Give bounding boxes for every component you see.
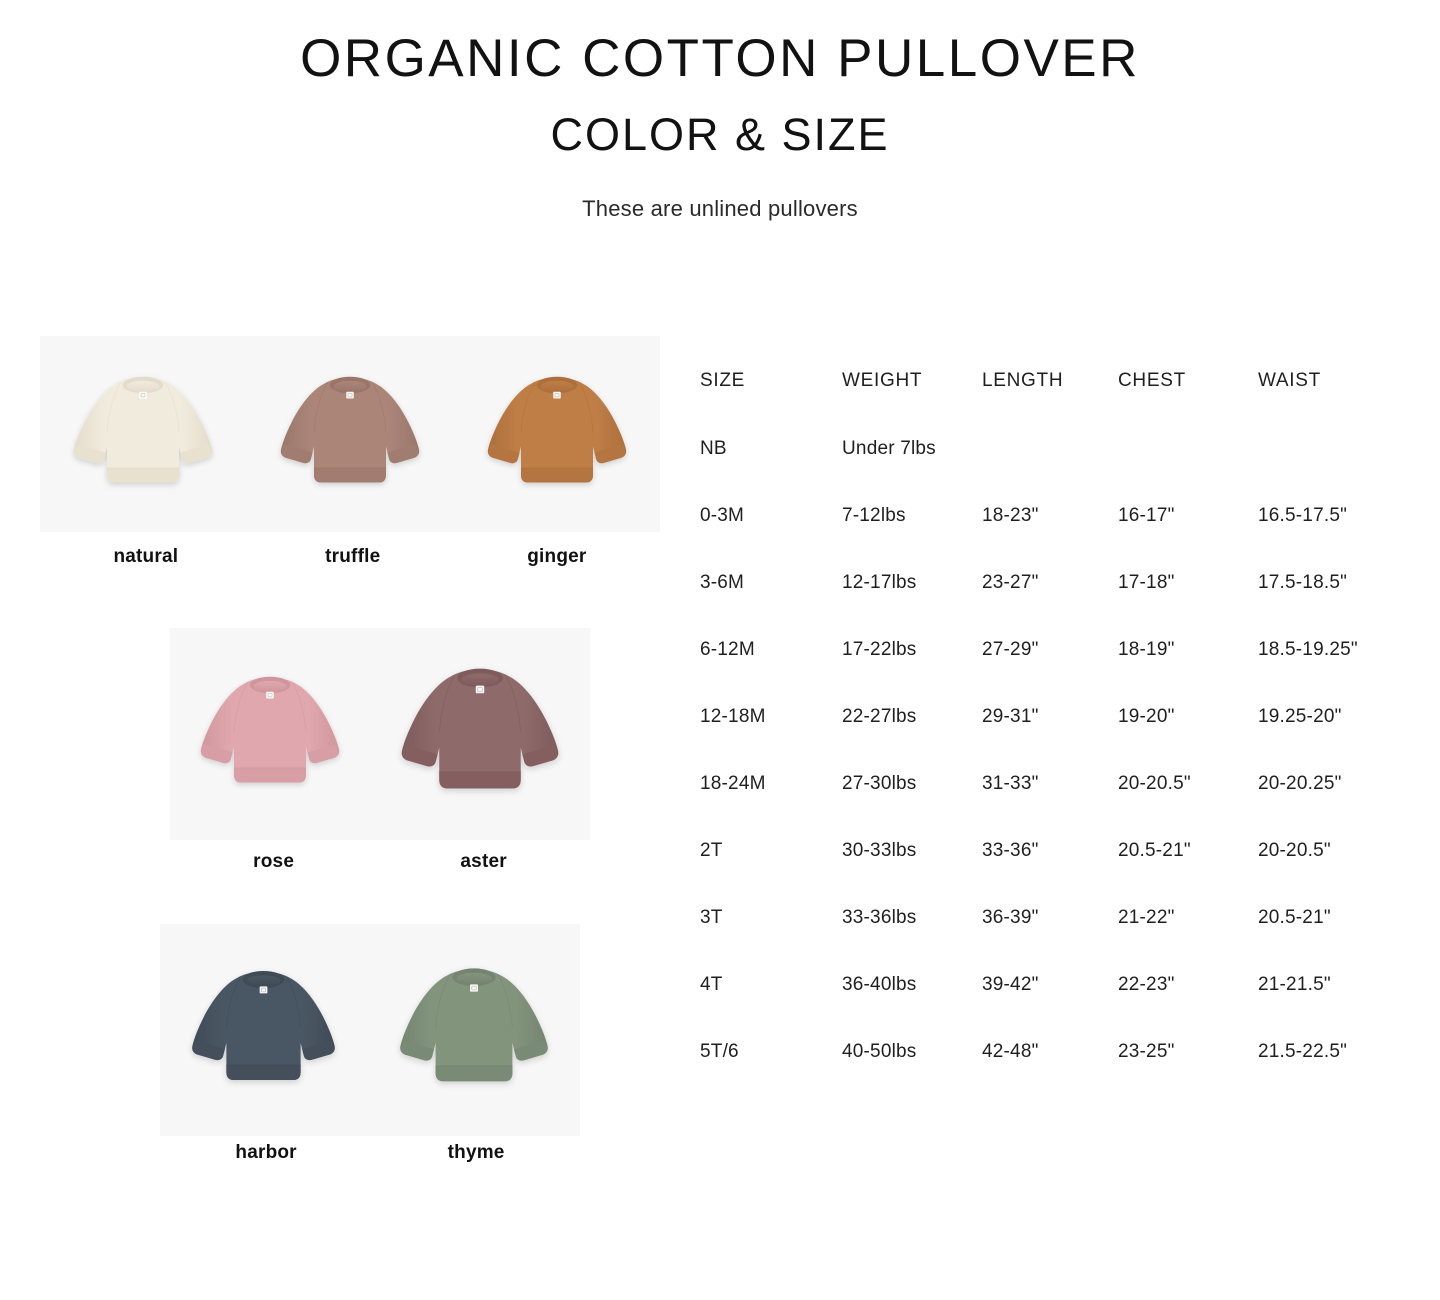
color-swatch-harbor[interactable] [186, 964, 341, 1097]
color-swatch-column: natural truffle ginger [0, 0, 690, 1300]
cell-length: 42-48" [982, 1041, 1118, 1063]
cell-waist: 20-20.25" [1258, 773, 1440, 840]
cell-length: 27-29" [982, 639, 1118, 706]
table-row: 3T33-36lbs36-39"21-22"20.5-21" [700, 907, 1440, 974]
cell-waist: 18.5-19.25" [1258, 639, 1440, 706]
color-swatch-aster[interactable] [395, 661, 565, 807]
pullover-illustration [395, 661, 565, 807]
cell-length: 36-39" [982, 907, 1118, 974]
table-row: 18-24M27-30lbs31-33"20-20.5"20-20.25" [700, 773, 1440, 840]
pullover-illustration [482, 370, 632, 499]
table-row: NBUnder 7lbs [700, 438, 1440, 505]
pullover-illustration [394, 961, 554, 1099]
color-panel [40, 336, 660, 532]
column-header-length: LENGTH [982, 370, 1118, 438]
color-label-aster: aster [460, 851, 506, 873]
cell-size: 3-6M [700, 572, 842, 639]
garment-row [160, 924, 580, 1136]
pullover-illustration [275, 370, 425, 499]
cell-size: 6-12M [700, 639, 842, 706]
table-row: 5T/640-50lbs42-48"23-25"21.5-22.5" [700, 1041, 1440, 1063]
color-group-row-1 [40, 336, 660, 532]
cell-waist: 19.25-20" [1258, 706, 1440, 773]
cell-weight: 22-27lbs [842, 706, 982, 773]
column-header-waist: WAIST [1258, 370, 1440, 438]
color-labels-row-1: natural truffle ginger [40, 546, 660, 568]
cell-weight: 12-17lbs [842, 572, 982, 639]
cell-weight: Under 7lbs [842, 438, 982, 505]
cell-waist: 17.5-18.5" [1258, 572, 1440, 639]
cell-length: 18-23" [982, 505, 1118, 572]
size-chart: SIZE WEIGHT LENGTH CHEST WAIST NBUnder 7… [700, 370, 1440, 1063]
size-table-body: NBUnder 7lbs0-3M7-12lbs18-23"16-17"16.5-… [700, 438, 1440, 1063]
cell-chest [1118, 438, 1258, 505]
color-label-truffle: truffle [325, 546, 380, 568]
cell-weight: 30-33lbs [842, 840, 982, 907]
cell-waist: 21-21.5" [1258, 974, 1440, 1041]
color-labels-row-2: rose aster [170, 851, 590, 873]
color-group-row-3 [160, 924, 580, 1136]
cell-weight: 17-22lbs [842, 639, 982, 706]
cell-size: 0-3M [700, 505, 842, 572]
cell-length: 33-36" [982, 840, 1118, 907]
cell-weight: 27-30lbs [842, 773, 982, 840]
table-row: 12-18M22-27lbs29-31"19-20"19.25-20" [700, 706, 1440, 773]
neck-tag-icon [346, 391, 354, 398]
cell-waist: 16.5-17.5" [1258, 505, 1440, 572]
table-row: 6-12M17-22lbs27-29"18-19"18.5-19.25" [700, 639, 1440, 706]
cell-chest: 19-20" [1118, 706, 1258, 773]
cell-length [982, 438, 1118, 505]
cell-chest: 21-22" [1118, 907, 1258, 974]
column-header-weight: WEIGHT [842, 370, 982, 438]
cell-size: 18-24M [700, 773, 842, 840]
cell-chest: 22-23" [1118, 974, 1258, 1041]
cell-waist: 20-20.5" [1258, 840, 1440, 907]
color-label-natural: natural [113, 546, 178, 568]
cell-size: NB [700, 438, 842, 505]
cell-length: 23-27" [982, 572, 1118, 639]
cell-waist: 20.5-21" [1258, 907, 1440, 974]
cell-weight: 40-50lbs [842, 1041, 982, 1063]
neck-tag-icon [260, 986, 268, 993]
garment-row [170, 628, 590, 840]
cell-chest: 17-18" [1118, 572, 1258, 639]
color-panel [160, 924, 580, 1136]
cell-chest: 20.5-21" [1118, 840, 1258, 907]
table-header-row: SIZE WEIGHT LENGTH CHEST WAIST [700, 370, 1440, 438]
neck-tag-icon [476, 686, 484, 694]
cell-waist: 21.5-22.5" [1258, 1041, 1440, 1063]
pullover-illustration [186, 964, 341, 1097]
table-row: 0-3M7-12lbs18-23"16-17"16.5-17.5" [700, 505, 1440, 572]
column-header-size: SIZE [700, 370, 842, 438]
table-row: 4T36-40lbs39-42"22-23"21-21.5" [700, 974, 1440, 1041]
cell-weight: 33-36lbs [842, 907, 982, 974]
pullover-illustration [195, 670, 345, 799]
cell-weight: 7-12lbs [842, 505, 982, 572]
color-labels-row-3: harbor thyme [160, 1142, 580, 1164]
table-row: 3-6M12-17lbs23-27"17-18"17.5-18.5" [700, 572, 1440, 639]
color-panel [170, 628, 590, 840]
color-swatch-ginger[interactable] [482, 370, 632, 499]
cell-length: 31-33" [982, 773, 1118, 840]
size-table: SIZE WEIGHT LENGTH CHEST WAIST NBUnder 7… [700, 370, 1440, 1063]
pullover-illustration [68, 370, 218, 499]
cell-length: 29-31" [982, 706, 1118, 773]
neck-tag-icon [140, 391, 148, 398]
cell-chest: 23-25" [1118, 1041, 1258, 1063]
color-swatch-rose[interactable] [195, 670, 345, 799]
column-header-chest: CHEST [1118, 370, 1258, 438]
garment-row [40, 336, 660, 532]
neck-tag-icon [553, 391, 561, 398]
neck-tag-icon [266, 691, 274, 698]
cell-chest: 16-17" [1118, 505, 1258, 572]
neck-tag-icon [470, 984, 478, 991]
color-label-harbor: harbor [235, 1142, 296, 1164]
cell-size: 4T [700, 974, 842, 1041]
page-root: ORGANIC COTTON PULLOVER COLOR & SIZE The… [0, 0, 1440, 1300]
table-row: 2T30-33lbs33-36"20.5-21"20-20.5" [700, 840, 1440, 907]
cell-size: 5T/6 [700, 1041, 842, 1063]
cell-length: 39-42" [982, 974, 1118, 1041]
cell-weight: 36-40lbs [842, 974, 982, 1041]
color-label-ginger: ginger [527, 546, 586, 568]
cell-size: 12-18M [700, 706, 842, 773]
color-swatch-truffle[interactable] [275, 370, 425, 499]
cell-size: 2T [700, 840, 842, 907]
color-label-thyme: thyme [448, 1142, 505, 1164]
color-swatch-natural[interactable] [68, 370, 218, 499]
color-swatch-thyme[interactable] [394, 961, 554, 1099]
cell-chest: 20-20.5" [1118, 773, 1258, 840]
cell-size: 3T [700, 907, 842, 974]
cell-waist [1258, 438, 1440, 505]
color-group-row-2 [170, 628, 590, 840]
cell-chest: 18-19" [1118, 639, 1258, 706]
color-label-rose: rose [253, 851, 294, 873]
